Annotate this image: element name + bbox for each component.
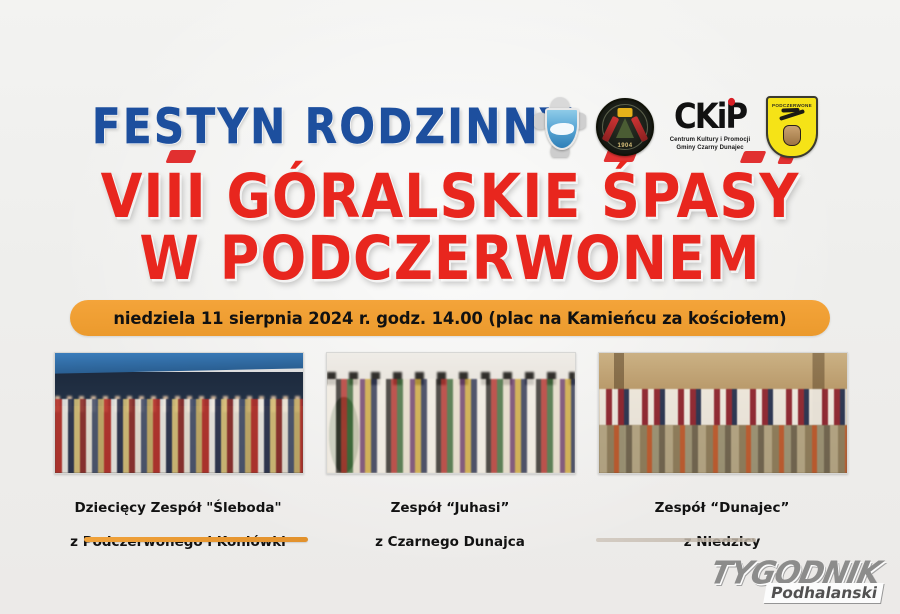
tree-icon [616,118,634,138]
page-title-line-1: VIII GÓRALSKIE ŚPASY [0,161,900,232]
headline-festyn-rodzinny: FESTYN RODZINNY [92,98,573,155]
page-title-line-2: W PODCZERWONEM [0,223,900,294]
ckip-wordmark: CKiP [664,100,756,135]
watermark-tygodnik-podhalanski: TYGODNIK Podhalanski [712,556,890,606]
photo-dunajec-group [598,352,848,474]
podczerwone-coat-of-arms-icon: PODCZERWONE [766,96,818,158]
ckip-wordmark-text: CKiP [674,97,746,137]
event-poster: FESTYN RODZINNY 1904 CKiP [0,0,900,614]
ensemble-card: Zespół “Juhasi” z Czarnego Dunajca [326,352,574,568]
ornate-blue-shield-crest-icon [534,97,586,157]
hats-row [327,372,575,385]
ensemble-card: Dziecięcy Zespół "Śleboda" z Podczerwone… [54,352,302,568]
ensemble-caption: Dziecięcy Zespół "Śleboda" z Podczerwone… [54,483,302,568]
ckip-subtitle: Centrum Kultury i Promocji Gminy Czarny … [664,137,756,152]
canopy-shape [54,352,304,374]
photo-sleboda-group [54,352,304,474]
event-date-banner: niedziela 11 sierpnia 2024 r. godz. 14.0… [70,300,830,336]
faces-row [55,396,303,412]
divider-grey [596,538,756,542]
ensemble-card-list: Dziecięcy Zespół "Śleboda" z Podczerwone… [0,352,900,568]
ensemble-caption-line1: Zespół “Dunajec” [598,500,846,517]
ensemble-caption-line1: Dziecięcy Zespół "Śleboda" [54,500,302,517]
headline-row: FESTYN RODZINNY 1904 CKiP [0,96,900,158]
logo-strip: 1904 CKiP Centrum Kultury i Promocji Gmi… [534,96,818,158]
ensemble-caption-line2: z Niedzicy [598,534,846,551]
patch-banner [618,108,633,117]
ckip-red-dot-icon [728,98,735,106]
ensemble-card: Zespół “Dunajec” z Niedzicy [598,352,846,568]
eagle-icon [779,109,805,121]
headline-area: FESTYN RODZINNY 1904 CKiP [0,96,900,158]
divider-orange [84,537,308,542]
patch-year: 1904 [598,143,652,149]
ensemble-caption: Zespół “Juhasi” z Czarnego Dunajca [326,483,574,568]
fire-brigade-round-patch-icon: 1904 [596,98,654,156]
watermark-line2: Podhalanski [763,583,884,603]
seated-row [599,425,847,473]
ensemble-caption-line1: Zespół “Juhasi” [326,500,574,517]
highlander-head-icon [783,125,801,146]
ckip-subtitle-line1: Centrum Kultury i Promocji [664,137,756,145]
ckip-logo-icon: CKiP Centrum Kultury i Promocji Gminy Cz… [664,98,756,156]
ensemble-caption-line2: z Czarnego Dunajca [326,534,574,551]
photo-juhasi-group [326,352,576,474]
christmas-tree-shape [329,397,359,473]
event-date-text: niedziela 11 sierpnia 2024 r. godz. 14.0… [113,309,786,328]
ckip-subtitle-line2: Gminy Czarny Dunajec [664,145,756,153]
